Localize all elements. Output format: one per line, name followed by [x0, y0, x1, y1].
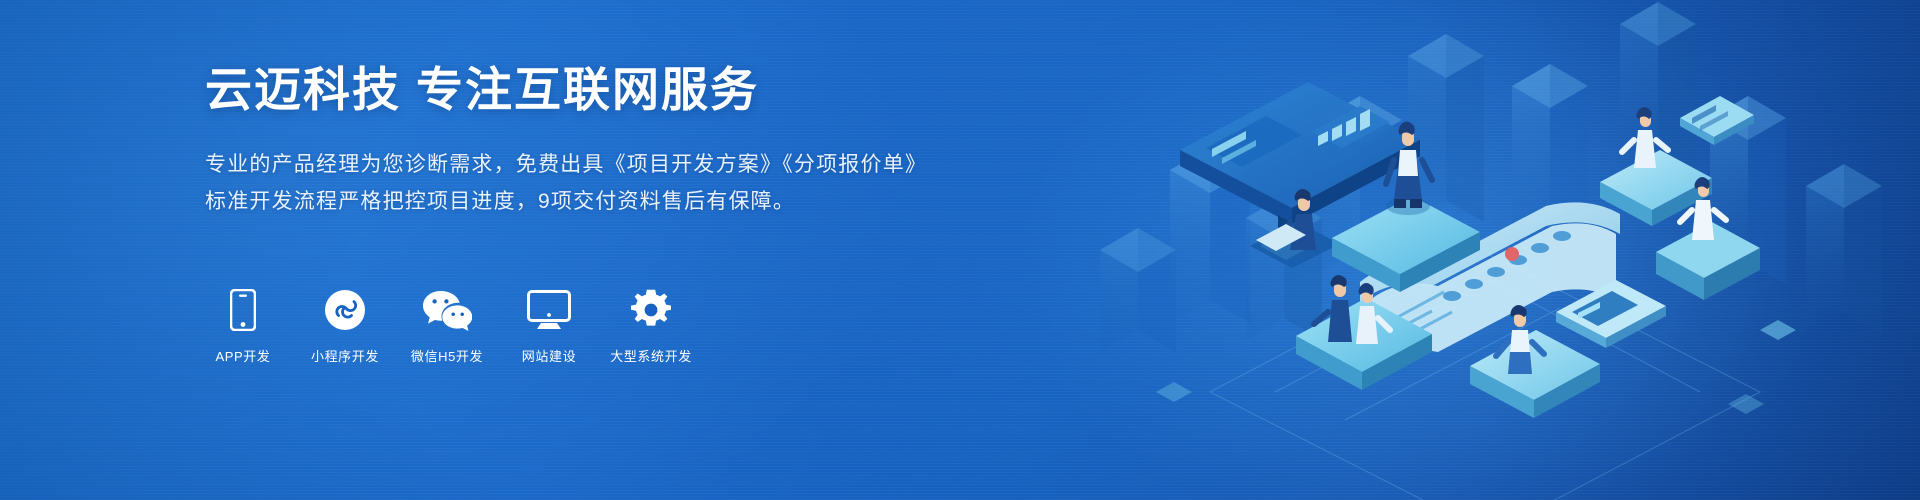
mini-program-icon	[324, 288, 366, 332]
page-title: 云迈科技 专注互联网服务	[205, 62, 985, 117]
monitor-icon	[527, 288, 571, 332]
service-item-app[interactable]: APP开发	[205, 288, 281, 365]
wechat-icon	[422, 288, 472, 332]
service-label: 大型系统开发	[610, 346, 692, 365]
service-label: 小程序开发	[311, 346, 379, 365]
service-item-mini-program[interactable]: 小程序开发	[307, 288, 383, 365]
service-label: 网站建设	[522, 346, 576, 365]
service-item-website[interactable]: 网站建设	[511, 288, 587, 365]
mobile-phone-icon	[230, 288, 256, 332]
gear-icon	[630, 288, 672, 332]
highlight-dot	[1505, 247, 1519, 261]
service-label: APP开发	[215, 346, 270, 365]
hero-banner: 云迈科技 专注互联网服务 专业的产品经理为您诊断需求，免费出具《项目开发方案》《…	[0, 0, 1920, 500]
subtitle-line-2: 标准开发流程严格把控项目进度，9项交付资料售后有保障。	[205, 186, 985, 219]
subtitle-line-1: 专业的产品经理为您诊断需求，免费出具《项目开发方案》《分项报价单》	[205, 149, 985, 182]
tablet-panel	[1556, 280, 1666, 348]
service-item-wechat-h5[interactable]: 微信H5开发	[409, 288, 485, 365]
service-label: 微信H5开发	[411, 346, 483, 365]
hero-copy: 云迈科技 专注互联网服务 专业的产品经理为您诊断需求，免费出具《项目开发方案》《…	[205, 62, 985, 219]
service-item-large-system[interactable]: 大型系统开发	[613, 288, 689, 365]
service-list: APP开发 小程序开发	[205, 288, 689, 365]
illustration-isometric-data-platform	[1060, 0, 1920, 500]
